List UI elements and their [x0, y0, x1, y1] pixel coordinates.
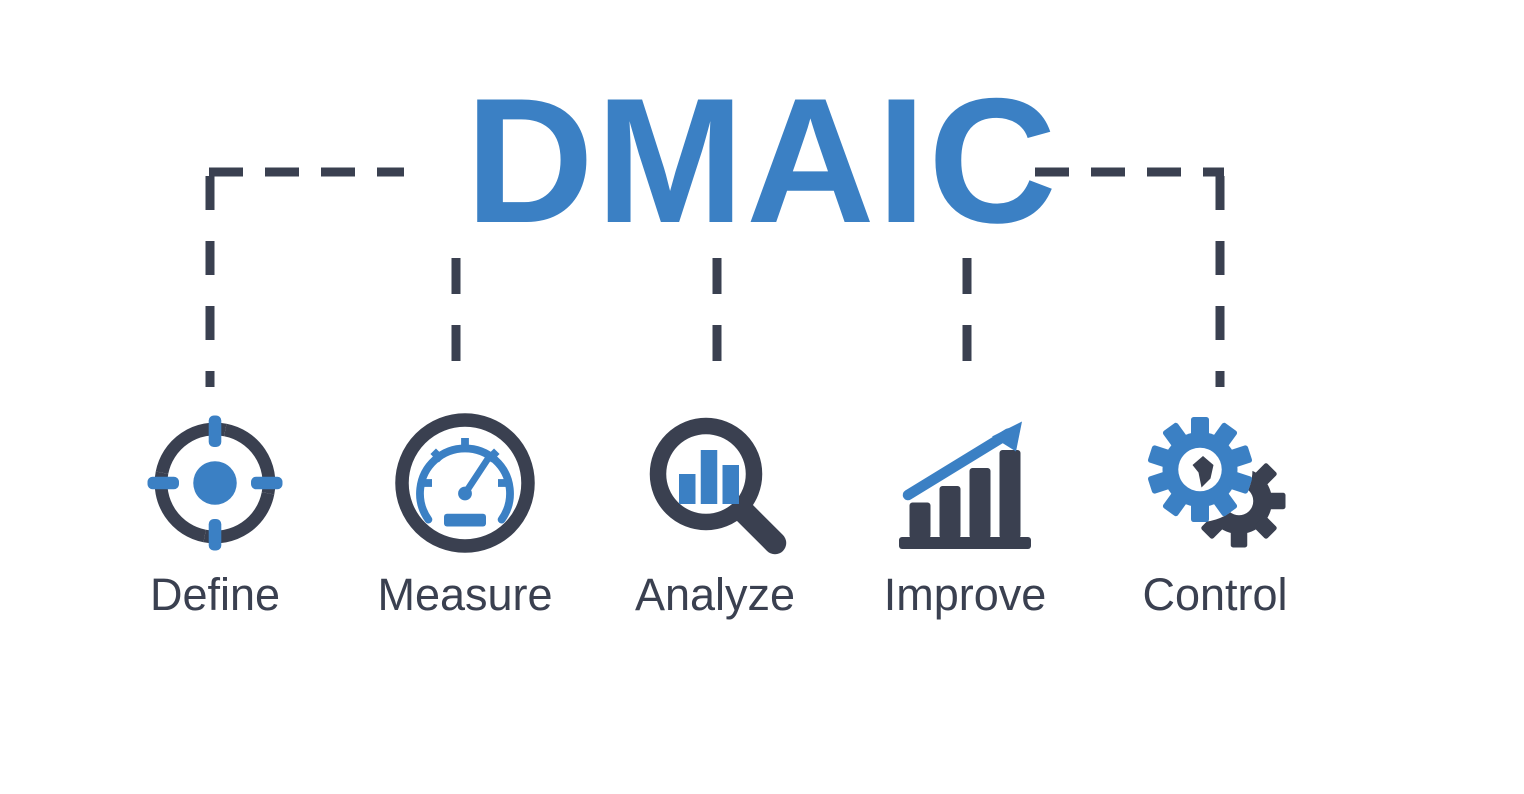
page-title: DMAIC [0, 72, 1524, 250]
bar-chart-up-arrow-icon [890, 408, 1040, 558]
target-crosshair-icon [140, 408, 290, 558]
dmaic-infographic: DMAIC [0, 0, 1524, 794]
step-define[interactable]: Define [90, 408, 340, 620]
gauge-speedometer-icon [390, 408, 540, 558]
step-label-define: Define [150, 570, 280, 620]
step-control: Control [1090, 408, 1340, 620]
step-measure[interactable]: Measure [340, 408, 590, 620]
step-label-analyze: Analyze [635, 570, 795, 620]
two-gears-icon [1140, 408, 1290, 558]
steps-row: Define [90, 408, 1340, 638]
step-analyze: Analyze [590, 408, 840, 620]
step-label-improve: Improve [884, 570, 1047, 620]
gear-front [1147, 417, 1252, 522]
step-label-control: Control [1142, 570, 1287, 620]
step-label-measure: Measure [377, 570, 552, 620]
step-improve: Improve [840, 408, 1090, 620]
magnifying-glass-bar-chart-icon [640, 408, 790, 558]
